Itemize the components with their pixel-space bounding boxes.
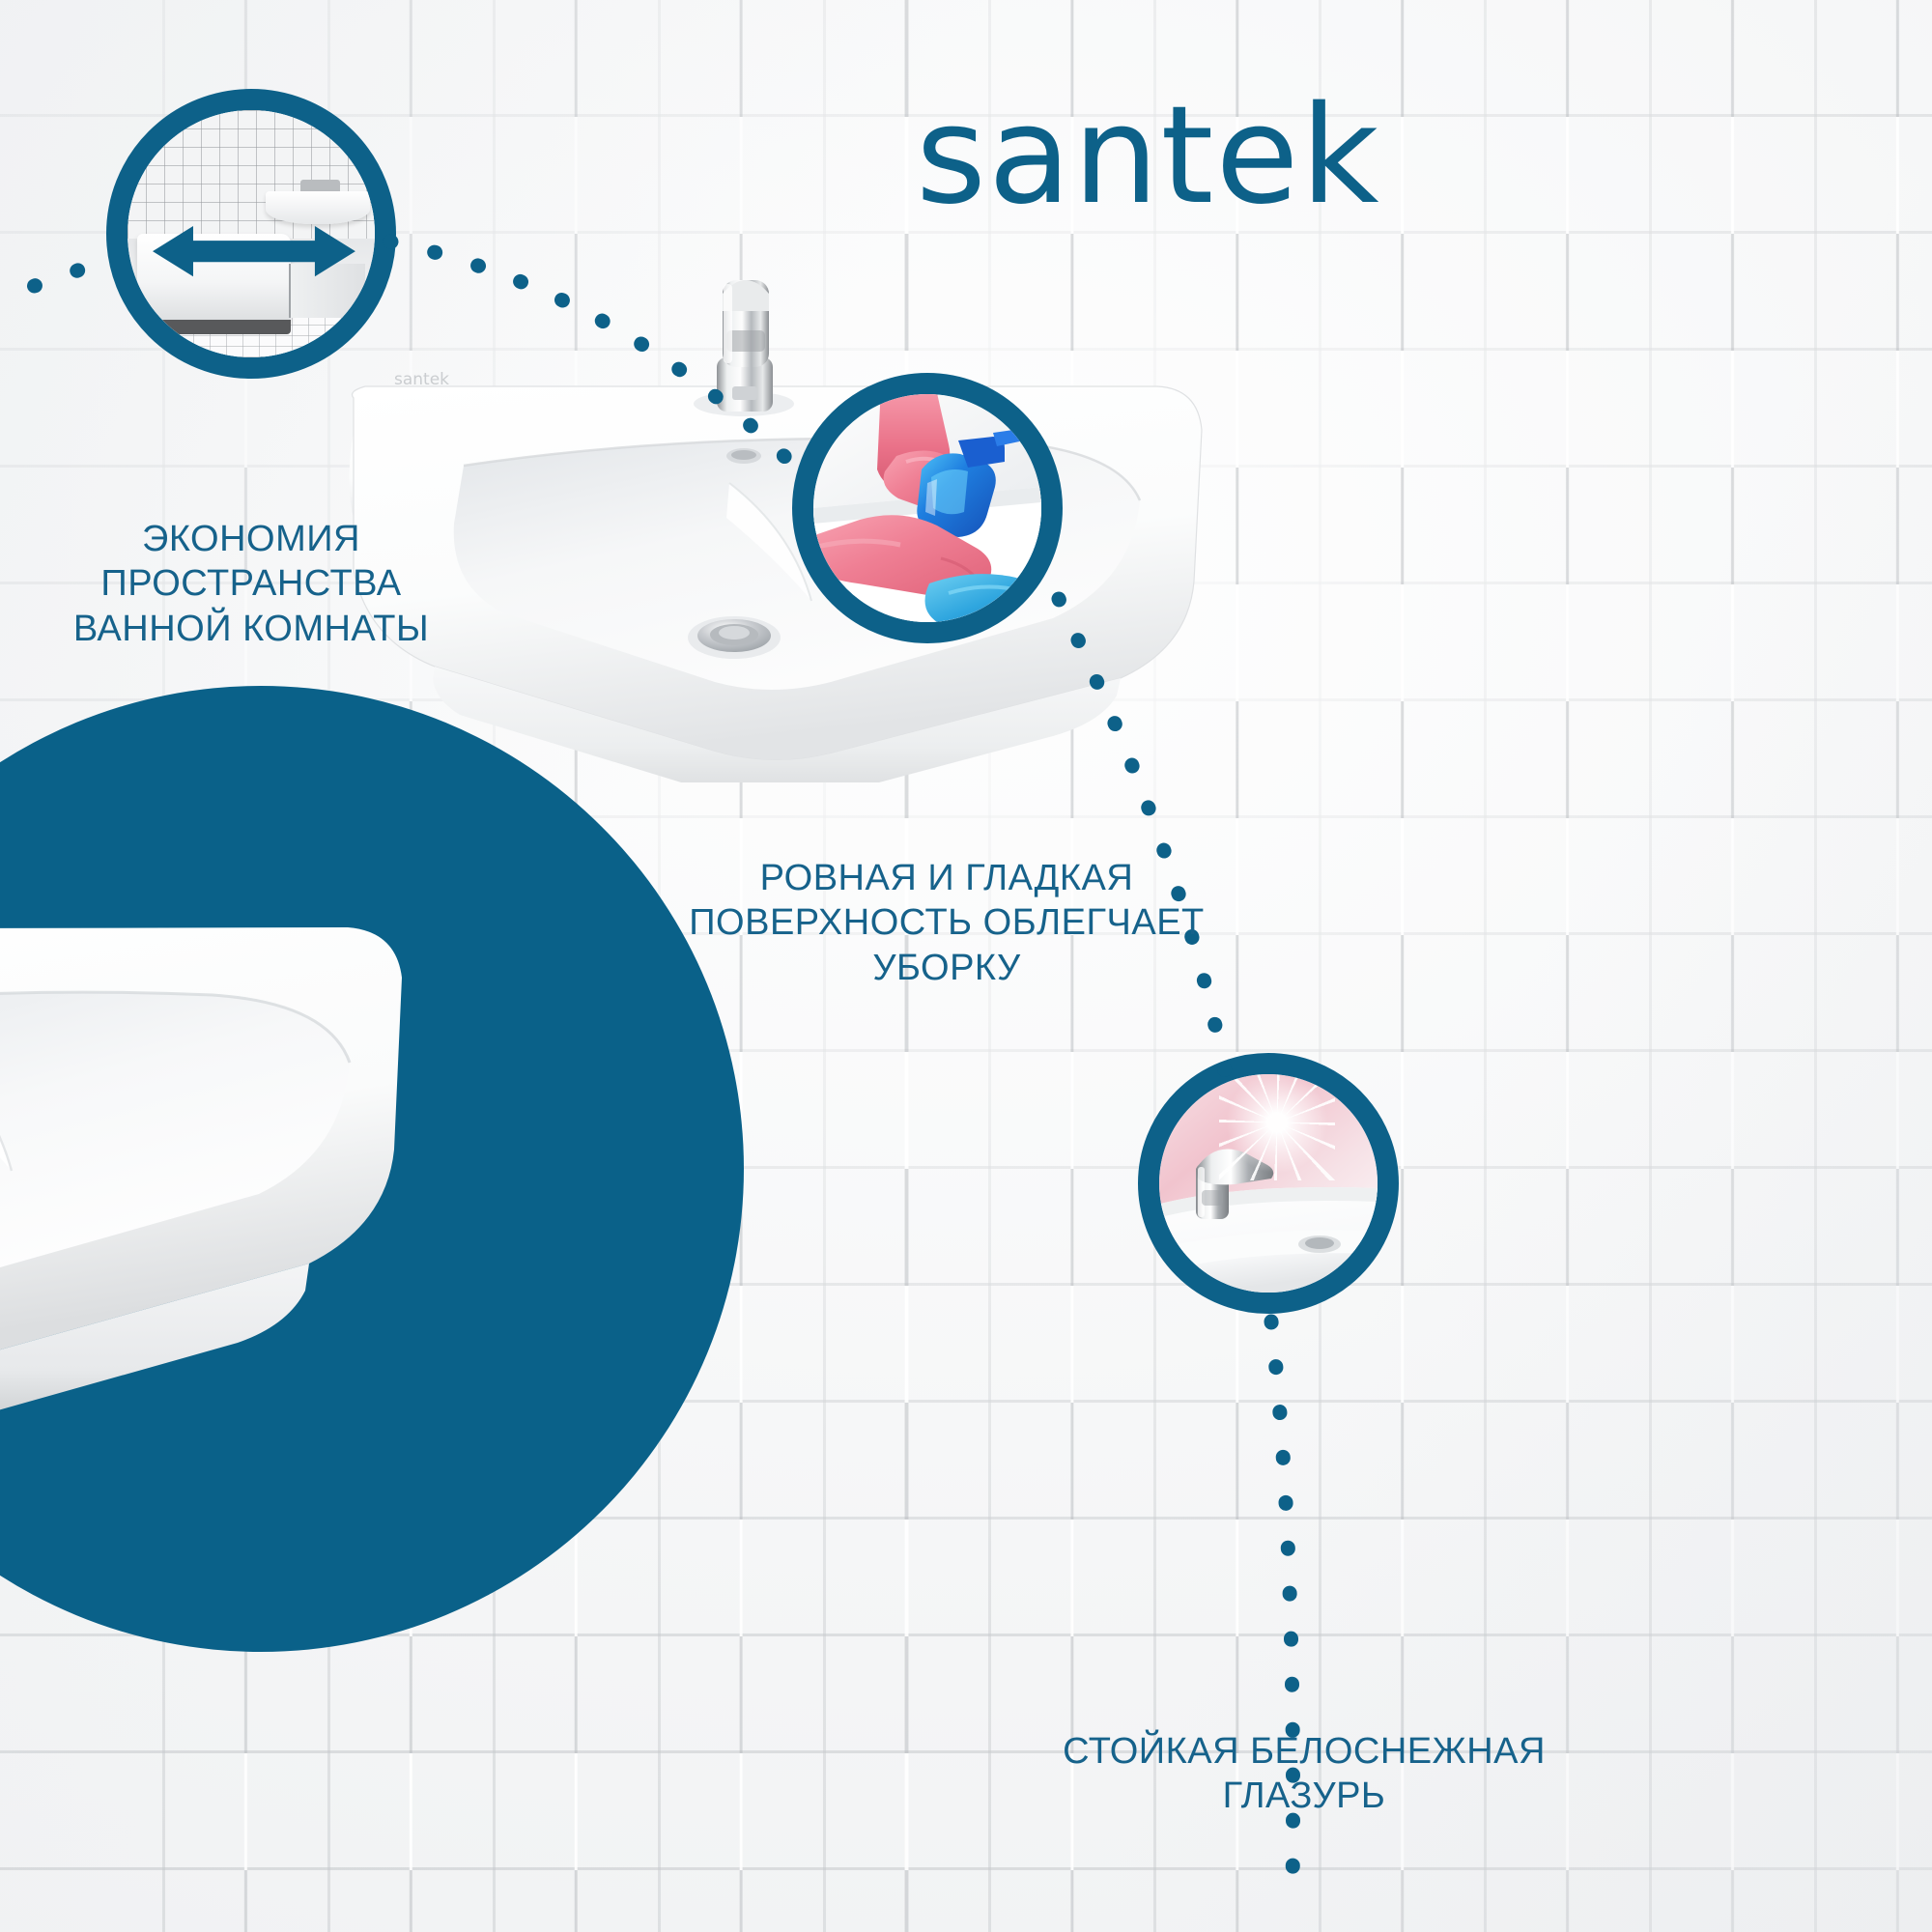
brand-logo: santek [916, 89, 1381, 224]
washbasin-illustration: santek [290, 241, 1236, 782]
caption-durable-glaze: СТОЙКАЯ БЕЛОСНЕЖНАЯ ГЛАЗУРЬ [1024, 1729, 1584, 1819]
bathroom-scene [128, 110, 375, 357]
caption-space-saving: ЭКОНОМИЯ ПРОСТРАНСТВА ВАННОЙ КОМНАТЫ [24, 517, 478, 651]
product-surface-brand-mark: santek [394, 370, 449, 389]
washbasin-closeup-illustration [0, 831, 560, 1430]
mini-washbasin-icon [266, 191, 370, 223]
product-washbasin-main: santek [290, 241, 1236, 782]
badge-easy-cleaning[interactable] [792, 373, 1063, 643]
badge-durable-glaze[interactable] [1138, 1053, 1399, 1314]
caption-smooth-surface: РОВНАЯ И ГЛАДКАЯ ПОВЕРХНОСТЬ ОБЛЕГЧАЕТ У… [676, 856, 1217, 990]
product-washbasin-closeup [0, 831, 560, 1430]
cleaning-scene [813, 394, 1041, 622]
chrome-faucet-icon [717, 280, 773, 412]
double-arrow-icon [153, 224, 355, 278]
glaze-scene [1159, 1074, 1378, 1293]
drain-icon [688, 616, 781, 659]
gloved-hands-spray-bottle-icon [813, 394, 1041, 622]
sparkle-icon [1219, 1065, 1335, 1180]
badge-space-saving[interactable] [106, 89, 396, 379]
